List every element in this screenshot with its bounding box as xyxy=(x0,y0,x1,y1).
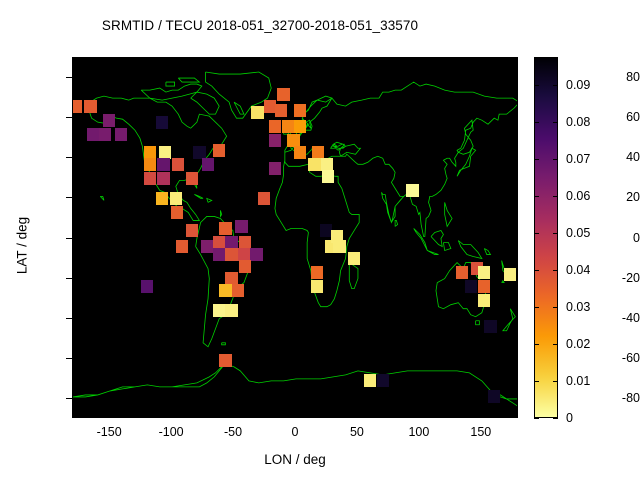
heatmap-cell xyxy=(250,248,262,261)
colorbar-tick-mark xyxy=(553,233,558,234)
heatmap-cell xyxy=(239,260,251,273)
heatmap-cell xyxy=(258,192,270,205)
heatmap-cell xyxy=(144,172,156,185)
heatmap-cell xyxy=(213,144,225,157)
heatmap-cell xyxy=(144,158,156,171)
heatmap-cell xyxy=(294,146,306,159)
colorbar-tick-mark xyxy=(534,85,539,86)
heatmap-cell xyxy=(156,116,168,129)
heatmap-cells xyxy=(73,58,518,418)
colorbar-tick-label: 0.02 xyxy=(566,337,590,351)
heatmap-cell xyxy=(311,266,323,279)
colorbar-tick-mark xyxy=(553,418,558,419)
x-tick-label: 0 xyxy=(260,425,330,439)
heatmap-cell xyxy=(277,88,289,101)
heatmap-cell xyxy=(484,320,496,333)
colorbar-tick-label: 0.01 xyxy=(566,374,590,388)
heatmap-cell xyxy=(156,192,168,205)
heatmap-cell xyxy=(232,284,244,297)
x-axis-label: LON / deg xyxy=(72,452,518,467)
heatmap-cell xyxy=(364,374,376,387)
heatmap-cell xyxy=(331,230,343,243)
colorbar-tick-label: 0.03 xyxy=(566,300,590,314)
colorbar-tick-label: 0 xyxy=(566,411,573,425)
heatmap-cell xyxy=(87,128,99,141)
heatmap-cell xyxy=(157,158,169,171)
y-tick-label: -80 xyxy=(578,391,640,405)
heatmap-cell xyxy=(186,172,198,185)
colorbar-tick-mark xyxy=(553,196,558,197)
colorbar-tick-label: 0.04 xyxy=(566,263,590,277)
heatmap-cell xyxy=(322,170,334,183)
heatmap-cell xyxy=(504,268,516,281)
heatmap-cell xyxy=(269,162,281,175)
heatmap-cell xyxy=(348,252,360,265)
heatmap-cell xyxy=(406,184,418,197)
x-tick-label: 100 xyxy=(384,425,454,439)
colorbar-tick-label: 0.05 xyxy=(566,226,590,240)
heatmap-cell xyxy=(478,280,490,293)
x-tick-label: -50 xyxy=(198,425,268,439)
colorbar-tick-label: 0.09 xyxy=(566,78,590,92)
heatmap-cell xyxy=(115,128,127,141)
colorbar-tick-mark xyxy=(553,270,558,271)
figure-canvas: SRMTID / TECU 2018-051_32700-2018-051_33… xyxy=(0,0,640,480)
heatmap-cell xyxy=(312,146,324,159)
heatmap-cell xyxy=(456,266,468,279)
colorbar-tick-mark xyxy=(534,196,539,197)
colorbar-tick-label: 0.08 xyxy=(566,115,590,129)
colorbar-tick-label: 0.07 xyxy=(566,152,590,166)
heatmap-cell xyxy=(201,240,213,253)
heatmap-cell xyxy=(251,106,263,119)
heatmap-cell xyxy=(478,266,490,279)
colorbar-tick-mark xyxy=(534,159,539,160)
x-tick-label: 150 xyxy=(446,425,516,439)
heatmap-cell xyxy=(269,120,281,133)
heatmap-cell xyxy=(84,100,96,113)
colorbar-gradient xyxy=(534,57,558,418)
heatmap-cell xyxy=(269,134,281,147)
heatmap-cell xyxy=(235,220,247,233)
colorbar-tick-mark xyxy=(534,418,539,419)
colorbar-tick-mark xyxy=(534,122,539,123)
heatmap-cell xyxy=(294,104,306,117)
colorbar-tick-mark xyxy=(534,270,539,271)
heatmap-cell xyxy=(219,354,231,367)
colorbar-tick-mark xyxy=(553,85,558,86)
colorbar-tick-mark xyxy=(534,381,539,382)
map-plot-area[interactable] xyxy=(72,57,518,418)
chart-title: SRMTID / TECU 2018-051_32700-2018-051_33… xyxy=(0,18,520,33)
colorbar-tick-label: 0.06 xyxy=(566,189,590,203)
heatmap-cell xyxy=(144,146,156,159)
heatmap-cell xyxy=(176,240,188,253)
x-tick-label: -100 xyxy=(136,425,206,439)
heatmap-cell xyxy=(72,100,82,113)
heatmap-cell xyxy=(186,224,198,237)
heatmap-cell xyxy=(213,248,225,261)
heatmap-cell xyxy=(99,128,111,141)
heatmap-cell xyxy=(159,146,171,159)
heatmap-cell xyxy=(294,120,306,133)
colorbar-tick-mark xyxy=(553,159,558,160)
heatmap-cell xyxy=(171,206,183,219)
colorbar-tick-mark xyxy=(553,122,558,123)
heatmap-cell xyxy=(213,304,225,317)
colorbar-tick-mark xyxy=(553,307,558,308)
heatmap-cell xyxy=(308,158,320,171)
heatmap-cell xyxy=(225,248,237,261)
heatmap-cell xyxy=(141,280,153,293)
heatmap-cell xyxy=(219,284,231,297)
y-axis-label: LAT / deg xyxy=(15,186,30,306)
colorbar[interactable] xyxy=(534,57,558,418)
heatmap-cell xyxy=(377,374,389,387)
heatmap-cell xyxy=(170,192,182,205)
colorbar-tick-mark xyxy=(553,381,558,382)
heatmap-cell xyxy=(238,248,250,261)
heatmap-cell xyxy=(103,114,115,127)
heatmap-cell xyxy=(275,104,287,117)
x-tick-label: 50 xyxy=(322,425,392,439)
heatmap-cell xyxy=(478,294,490,307)
heatmap-cell xyxy=(225,304,237,317)
x-tick-label: -150 xyxy=(74,425,144,439)
heatmap-cell xyxy=(311,280,323,293)
heatmap-cell xyxy=(465,280,477,293)
colorbar-tick-mark xyxy=(534,233,539,234)
heatmap-cell xyxy=(488,390,500,403)
colorbar-tick-mark xyxy=(534,307,539,308)
heatmap-cell xyxy=(172,158,184,171)
colorbar-tick-mark xyxy=(534,344,539,345)
heatmap-cell xyxy=(193,146,205,159)
heatmap-cell xyxy=(219,222,231,235)
colorbar-tick-mark xyxy=(553,344,558,345)
y-tick-label: -60 xyxy=(578,351,640,365)
heatmap-cell xyxy=(202,158,214,171)
heatmap-cell xyxy=(157,172,169,185)
